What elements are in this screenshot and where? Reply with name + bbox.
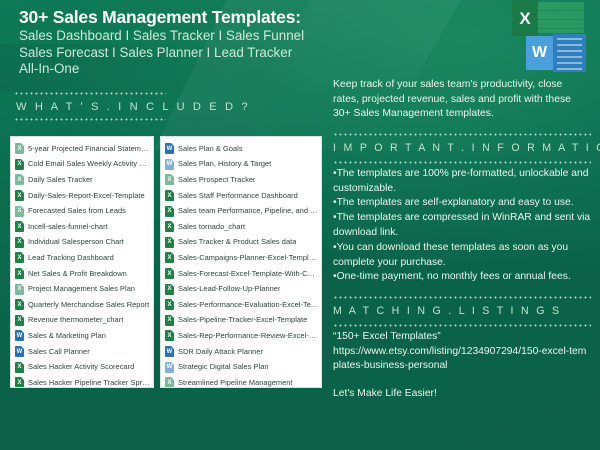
excel-file-icon: X	[15, 377, 24, 388]
file-list-item-label: Project Management Sales Plan	[28, 284, 135, 294]
excel-file-icon: X	[165, 206, 174, 217]
file-list-item-label: Sales tornado_chart	[178, 222, 245, 232]
matching-listings-section: M A T C H I N G . L I S T I N G S “150+ …	[333, 296, 591, 374]
dotted-divider-matching-bottom	[333, 324, 591, 327]
file-list-item-label: Lead Tracking Dashboard	[28, 253, 114, 263]
excel-file-icon: X	[165, 174, 174, 185]
intro-paragraph: Keep track of your sales team's producti…	[333, 78, 591, 122]
file-list-item[interactable]: XSales Prospect Tracker	[165, 172, 318, 188]
word-file-icon: W	[165, 362, 174, 373]
file-list-item-label: Sales-Forecast-Excel-Template-With-Cha..…	[178, 269, 318, 279]
excel-file-icon: X	[15, 143, 24, 154]
subtitle-line-2: Sales Forecast I Sales Planner I Lead Tr…	[19, 45, 364, 62]
excel-file-icon: X	[15, 268, 24, 279]
dotted-divider-info-top	[333, 133, 591, 136]
excel-file-icon: X	[15, 315, 24, 326]
file-list-item[interactable]: XSales Hacker Pipeline Tracker Spreadshe…	[15, 375, 150, 388]
file-list-item[interactable]: XSales-Rep-Performance-Review-Excel-Te..…	[165, 328, 318, 344]
file-list-item[interactable]: XSales Staff Performance Dashboard	[165, 188, 318, 204]
excel-sheet-graphic	[538, 2, 584, 33]
file-list-item-label: Net Sales & Profit Breakdown	[28, 269, 127, 279]
file-list-item[interactable]: XSales-Pipeline-Tracker-Excel-Template	[165, 313, 318, 329]
info-bullet: •The templates are 100% pre-formatted, u…	[333, 167, 591, 197]
file-list-item-label: Strategic Digital Sales Plan	[178, 362, 269, 372]
file-list-item-label: Sales Tracker & Product Sales data	[178, 237, 296, 247]
file-list-item-label: Sales & Marketing Plan	[28, 331, 106, 341]
word-page-graphic	[553, 34, 586, 72]
info-bullet: •One-time payment, no monthly fees or an…	[333, 270, 591, 285]
whats-included-heading: W H A T ' S . I N C L U D E D ?	[14, 95, 182, 118]
dotted-divider-top	[14, 92, 166, 95]
excel-file-icon: X	[165, 377, 174, 388]
info-bullet: •The templates are self-explanatory and …	[333, 196, 591, 211]
file-list-item[interactable]: XStreamlined Pipeline Management	[165, 375, 318, 388]
file-list-item-label: Daily-Sales-Report-Excel-Template	[28, 191, 145, 201]
file-list-item[interactable]: XSales-Lead-Follow-Up-Planner	[165, 281, 318, 297]
excel-icon-letter: X	[519, 10, 530, 27]
file-list-item-label: Sales-Rep-Performance-Review-Excel-Te...	[178, 331, 318, 341]
file-list-item-label: Revenue thermometer_chart	[28, 315, 123, 325]
file-list-item[interactable]: XCold Email Sales Weekly Activity Spread…	[15, 157, 150, 173]
excel-file-icon: X	[15, 362, 24, 373]
dotted-divider-bottom	[14, 118, 166, 121]
file-list-item[interactable]: WSDR Daily Attack Planner	[165, 344, 318, 360]
matching-listings-heading: M A T C H I N G . L I S T I N G S	[333, 302, 591, 320]
file-list-item-label: Sales Staff Performance Dashboard	[178, 191, 298, 201]
file-list-column-a[interactable]: X5-year Projected Financial StatementsXC…	[10, 136, 154, 388]
word-file-icon: W	[165, 159, 174, 170]
matching-listing-entry: “150+ Excel Templates” https://www.etsy.…	[333, 330, 591, 374]
file-list-item-label: Streamlined Pipeline Management	[178, 378, 293, 388]
file-list-item-label: Forecasted Sales from Leads	[28, 206, 126, 216]
word-file-icon: W	[15, 330, 24, 341]
excel-file-icon: X	[15, 174, 24, 185]
file-list-item[interactable]: X5-year Projected Financial Statements	[15, 141, 150, 157]
closing-line: Let's Make Life Easier!	[333, 387, 591, 402]
file-list-item-label: Sales-Campaigns-Planner-Excel-Template	[178, 253, 318, 263]
file-list-item[interactable]: XQuarterly Merchandise Sales Report	[15, 297, 150, 313]
excel-file-icon: X	[165, 284, 174, 295]
important-information-heading: I M P O R T A N T . I N F O R M A T I O …	[333, 139, 591, 157]
file-list-item[interactable]: XLead Tracking Dashboard	[15, 250, 150, 266]
file-list-item-label: Quarterly Merchandise Sales Report	[28, 300, 149, 310]
file-list-item[interactable]: XDaily-Sales-Report-Excel-Template	[15, 188, 150, 204]
excel-file-icon: X	[165, 268, 174, 279]
file-list-item[interactable]: XIncell-sales-funnel-chart	[15, 219, 150, 235]
file-list-item[interactable]: WSales Call Planner	[15, 344, 150, 360]
excel-file-icon: X	[15, 284, 24, 295]
file-list-item-label: Sales-Performance-Evaluation-Excel-Te...	[178, 300, 317, 310]
file-list-item[interactable]: XSales tornado_chart	[165, 219, 318, 235]
excel-file-icon: X	[15, 190, 24, 201]
excel-file-icon: X	[165, 330, 174, 341]
file-list-item[interactable]: XProject Management Sales Plan	[15, 281, 150, 297]
file-list-item-label: Sales-Lead-Follow-Up-Planner	[178, 284, 280, 294]
file-list-item-label: Sales Plan, History & Target	[178, 159, 271, 169]
excel-file-icon: X	[15, 299, 24, 310]
dotted-divider-info-bottom	[333, 161, 591, 164]
right-column: Keep track of your sales team's producti…	[333, 78, 591, 402]
file-list-item[interactable]: WSales Plan, History & Target	[165, 157, 318, 173]
word-file-icon: W	[15, 346, 24, 357]
poster-canvas: 30+ Sales Management Templates: Sales Da…	[0, 0, 600, 450]
excel-file-icon: X	[165, 315, 174, 326]
file-list-item-label: Sales Plan & Goals	[178, 144, 243, 154]
subtitle-line-1: Sales Dashboard I Sales Tracker I Sales …	[19, 28, 364, 45]
file-list-item-label: Sales Prospect Tracker	[178, 175, 256, 185]
file-list-item-label: Sales Hacker Activity Scorecard	[28, 362, 134, 372]
listing-url[interactable]: https://www.etsy.com/listing/1234907294/…	[333, 345, 591, 374]
file-list-item[interactable]: WSales Plan & Goals	[165, 141, 318, 157]
file-list-item-label: Sales team Performance, Pipeline, and Tr…	[178, 206, 318, 216]
excel-file-icon: X	[15, 159, 24, 170]
excel-file-icon: X	[165, 299, 174, 310]
file-list-item-label: Sales Hacker Pipeline Tracker Spreadshee…	[28, 378, 150, 388]
listing-name: “150+ Excel Templates”	[333, 331, 441, 342]
file-list-item-label: 5-year Projected Financial Statements	[28, 144, 150, 154]
file-list-column-b[interactable]: WSales Plan & GoalsWSales Plan, History …	[160, 136, 322, 388]
file-list-item[interactable]: XSales-Campaigns-Planner-Excel-Template	[165, 250, 318, 266]
excel-file-icon: X	[15, 237, 24, 248]
file-list-item-label: Individual Salesperson Chart	[28, 237, 124, 247]
file-list-panels: X5-year Projected Financial StatementsXC…	[10, 136, 322, 388]
important-information-section: I M P O R T A N T . I N F O R M A T I O …	[333, 133, 591, 285]
file-list-item[interactable]: WStrategic Digital Sales Plan	[165, 359, 318, 375]
office-badges: X W	[496, 0, 600, 80]
excel-file-icon: X	[15, 206, 24, 217]
file-list-item-label: Sales Call Planner	[28, 347, 90, 357]
word-file-icon: W	[165, 346, 174, 357]
info-bullet: •You can download these templates as soo…	[333, 241, 591, 271]
excel-file-icon: X	[165, 190, 174, 201]
dotted-divider-matching-top	[333, 296, 591, 299]
file-list-item[interactable]: XSales Tracker & Product Sales data	[165, 235, 318, 251]
excel-icon: X	[512, 0, 538, 36]
info-bullet: •The templates are compressed in WinRAR …	[333, 211, 591, 241]
file-list-item-label: SDR Daily Attack Planner	[178, 347, 263, 357]
file-list-item[interactable]: XSales Hacker Activity Scorecard	[15, 359, 150, 375]
whats-included-section: W H A T ' S . I N C L U D E D ?	[14, 92, 182, 121]
file-list-item[interactable]: XDaily Sales Tracker	[15, 172, 150, 188]
subtitle-line-3: All-In-One	[19, 61, 364, 78]
file-list-item[interactable]: XSales-Performance-Evaluation-Excel-Te..…	[165, 297, 318, 313]
file-list-item-label: Cold Email Sales Weekly Activity Spreads…	[28, 159, 150, 169]
file-list-item[interactable]: XRevenue thermometer_chart	[15, 313, 150, 329]
excel-file-icon: X	[165, 252, 174, 263]
file-list-item-label: Incell-sales-funnel-chart	[28, 222, 108, 232]
word-file-icon: W	[165, 143, 174, 154]
excel-file-icon: X	[15, 252, 24, 263]
excel-file-icon: X	[165, 221, 174, 232]
file-list-item-label: Daily Sales Tracker	[28, 175, 93, 185]
excel-file-icon: X	[15, 221, 24, 232]
header: 30+ Sales Management Templates: Sales Da…	[19, 7, 364, 78]
page-title: 30+ Sales Management Templates:	[19, 7, 364, 28]
file-list-item[interactable]: XForecasted Sales from Leads	[15, 203, 150, 219]
file-list-item[interactable]: XIndividual Salesperson Chart	[15, 235, 150, 251]
file-list-item[interactable]: XSales team Performance, Pipeline, and T…	[165, 203, 318, 219]
word-icon: W	[526, 36, 553, 70]
word-icon-letter: W	[532, 45, 547, 61]
important-information-bullets: •The templates are 100% pre-formatted, u…	[333, 167, 591, 285]
file-list-item[interactable]: XSales-Forecast-Excel-Template-With-Cha.…	[165, 266, 318, 282]
excel-file-icon: X	[165, 237, 174, 248]
file-list-item[interactable]: XNet Sales & Profit Breakdown	[15, 266, 150, 282]
file-list-item[interactable]: WSales & Marketing Plan	[15, 328, 150, 344]
file-list-item-label: Sales-Pipeline-Tracker-Excel-Template	[178, 315, 307, 325]
